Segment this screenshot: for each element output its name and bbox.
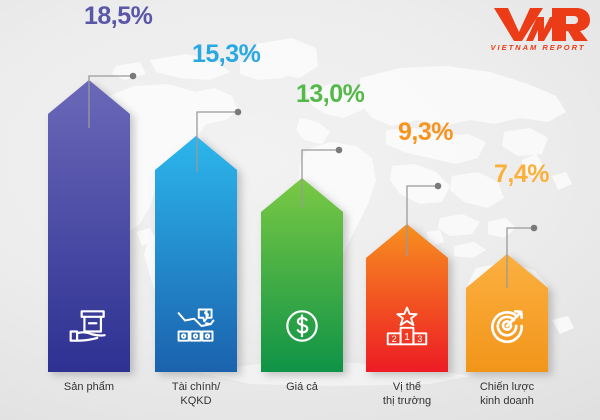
- svg-text:3: 3: [417, 334, 422, 344]
- bar-tai-chinh-kqkd[interactable]: Tài chính/ KQKD: [155, 136, 237, 372]
- infographic-canvas: VIETNAM REPORT Sản phẩm: [0, 0, 600, 420]
- svg-text:1: 1: [404, 332, 410, 343]
- podium-star-icon: 1 2 3: [385, 304, 429, 348]
- bar-label-tai-chinh-kqkd: Tài chính/ KQKD: [172, 380, 220, 408]
- dollar-coin-icon: [280, 304, 324, 348]
- financial-chart-money-icon: [174, 304, 218, 348]
- bar-label-line1: Chiến lược: [480, 380, 534, 394]
- bar-arrow-shape: [366, 224, 448, 372]
- target-arrow-icon: [485, 304, 529, 348]
- bar-label-line1: Giá cả: [286, 380, 318, 394]
- value-san-pham: 18,5%: [84, 4, 152, 29]
- bar-label-chien-luoc-kinh-doanh: Chiến lược kinh doanh: [480, 380, 534, 408]
- bar-label-san-pham: Sản phẩm: [64, 380, 114, 394]
- bar-chien-luoc-kinh-doanh[interactable]: Chiến lược kinh doanh: [466, 254, 548, 372]
- bar-label-line1: Vị thế: [383, 380, 431, 394]
- value-vi-the-thi-truong: 9,3%: [398, 120, 453, 145]
- vnr-logo-mark-icon: [486, 6, 590, 42]
- bar-gia-ca[interactable]: Giá cả: [261, 178, 343, 372]
- vnr-logo-wordmark: VIETNAM REPORT: [486, 43, 590, 52]
- bar-san-pham[interactable]: Sản phẩm: [48, 80, 130, 372]
- value-gia-ca: 13,0%: [296, 82, 364, 107]
- bar-label-line1: Tài chính/: [172, 380, 220, 394]
- vnr-logo: VIETNAM REPORT: [486, 6, 590, 54]
- bar-vi-the-thi-truong[interactable]: 1 2 3 Vị thế thị trường: [366, 224, 448, 372]
- bar-label-line2: thị trường: [383, 394, 431, 408]
- svg-text:2: 2: [392, 334, 397, 344]
- bar-label-gia-ca: Giá cả: [286, 380, 318, 394]
- hand-holding-box-icon: [67, 304, 111, 348]
- value-chien-luoc-kinh-doanh: 7,4%: [494, 162, 549, 187]
- bar-label-vi-the-thi-truong: Vị thế thị trường: [383, 380, 431, 408]
- bar-label-line2: KQKD: [172, 394, 220, 408]
- bar-label-line2: kinh doanh: [480, 394, 534, 408]
- bar-label-line1: Sản phẩm: [64, 380, 114, 394]
- value-tai-chinh-kqkd: 15,3%: [192, 42, 260, 67]
